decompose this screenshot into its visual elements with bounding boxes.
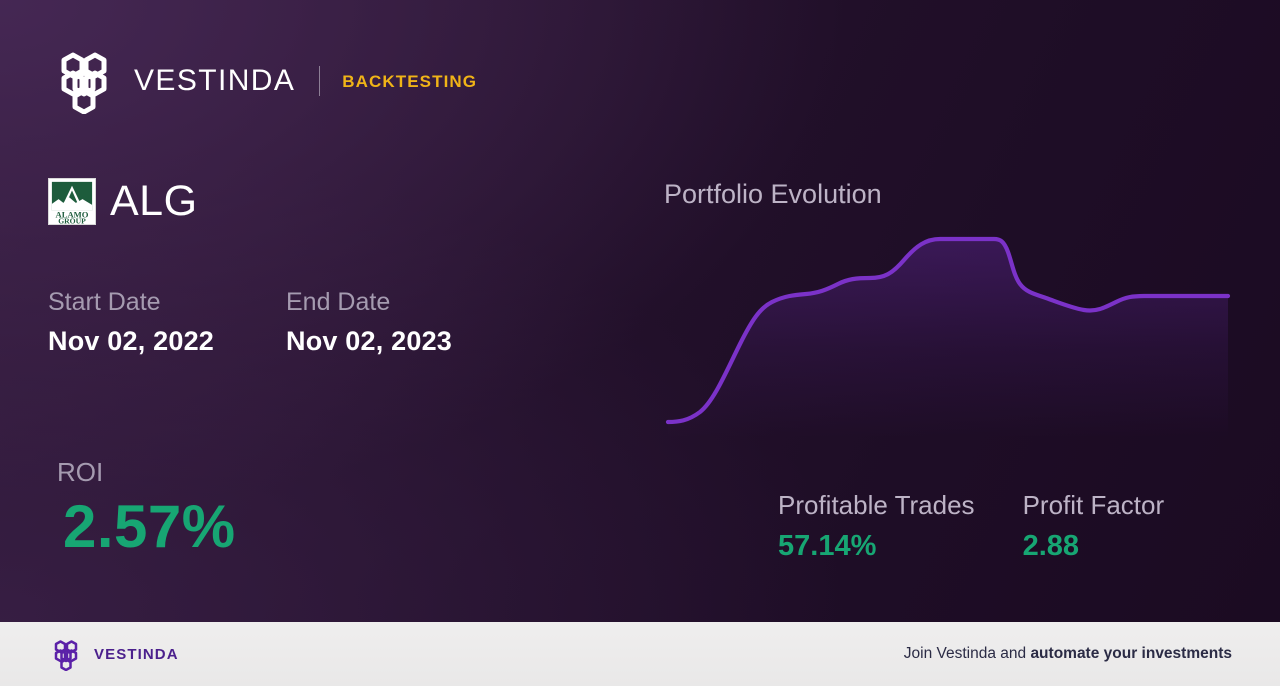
chart-area-fill: [668, 239, 1228, 438]
footer-cta-prefix: Join Vestinda and: [904, 645, 1031, 662]
profit-factor-block: Profit Factor 2.88: [1023, 490, 1165, 564]
alamo-group-logo-icon: ALAMO GROUP: [48, 178, 96, 225]
header-divider: [319, 66, 320, 96]
profitable-trades-label: Profitable Trades: [778, 490, 975, 521]
profitable-trades-block: Profitable Trades 57.14%: [778, 490, 975, 564]
roi-value: 2.57%: [63, 495, 236, 558]
footer: VESTINDA Join Vestinda and automate your…: [0, 622, 1280, 686]
footer-brand-name: VESTINDA: [94, 647, 179, 662]
vestinda-hexagon-logo-icon: [48, 48, 120, 114]
ticker-row: ALAMO GROUP ALG: [48, 178, 198, 225]
end-date-value: Nov 02, 2023: [286, 324, 524, 359]
roi-block: ROI 2.57%: [57, 458, 236, 558]
vestinda-hexagon-logo-icon: [48, 638, 84, 671]
start-date-block: Start Date Nov 02, 2022: [48, 286, 286, 359]
profit-factor-value: 2.88: [1023, 529, 1165, 564]
profitable-trades-value: 57.14%: [778, 529, 975, 564]
portfolio-evolution-chart: [648, 222, 1248, 438]
backtesting-tag: BACKTESTING: [342, 73, 477, 90]
footer-cta: Join Vestinda and automate your investme…: [904, 646, 1232, 662]
date-range: Start Date Nov 02, 2022 End Date Nov 02,…: [48, 286, 524, 359]
footer-brand[interactable]: VESTINDA: [48, 638, 179, 671]
header: VESTINDA BACKTESTING: [48, 48, 477, 114]
start-date-value: Nov 02, 2022: [48, 324, 286, 359]
profit-factor-label: Profit Factor: [1023, 490, 1165, 521]
backtesting-report-card: VESTINDA BACKTESTING ALAMO GROUP ALG Sta…: [0, 0, 1280, 622]
brand-name: VESTINDA: [134, 66, 295, 96]
stats-row: Profitable Trades 57.14% Profit Factor 2…: [778, 490, 1164, 564]
chart-title: Portfolio Evolution: [664, 178, 882, 210]
start-date-label: Start Date: [48, 286, 286, 318]
roi-label: ROI: [57, 458, 236, 487]
svg-text:GROUP: GROUP: [58, 217, 86, 225]
footer-cta-strong: automate your investments: [1030, 645, 1232, 662]
end-date-label: End Date: [286, 286, 524, 318]
end-date-block: End Date Nov 02, 2023: [286, 286, 524, 359]
ticker-symbol: ALG: [110, 180, 198, 223]
